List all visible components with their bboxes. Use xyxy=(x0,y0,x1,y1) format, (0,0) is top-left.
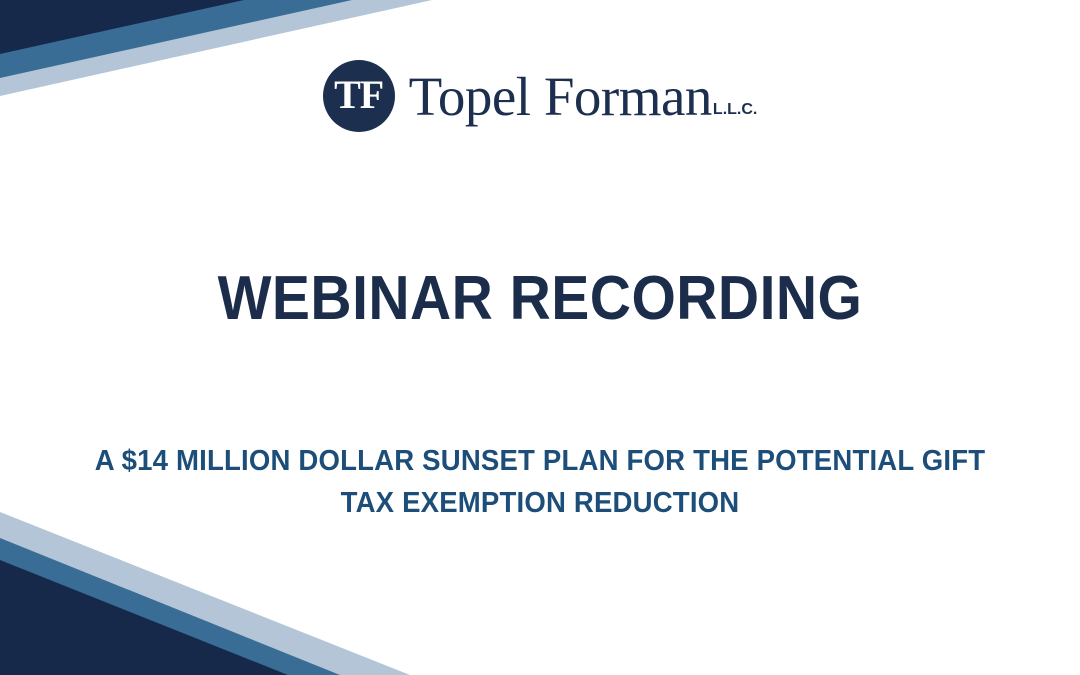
tf-monogram-icon: TF xyxy=(323,60,395,132)
bottom-left-navy-band xyxy=(0,560,288,675)
subtitle-line-2: TAX EXEMPTION REDUCTION xyxy=(75,482,1006,524)
logo-monogram-text: TF xyxy=(334,75,383,115)
top-left-navy-band xyxy=(0,0,244,54)
logo-wordmark: Topel Forman L.L.C. xyxy=(409,69,758,124)
brand-logo-lockup: TF Topel Forman L.L.C. xyxy=(0,60,1080,132)
subtitle-line-1: A $14 MILLION DOLLAR SUNSET PLAN FOR THE… xyxy=(75,440,1006,482)
bottom-left-steel-blue-band xyxy=(0,538,340,675)
webinar-recording-slide: TF Topel Forman L.L.C. WEBINAR RECORDING… xyxy=(0,0,1080,675)
company-name-text: Topel Forman xyxy=(409,69,712,124)
entity-suffix-text: L.L.C. xyxy=(713,102,757,118)
page-title: WEBINAR RECORDING xyxy=(43,266,1037,331)
webinar-subtitle: A $14 MILLION DOLLAR SUNSET PLAN FOR THE… xyxy=(75,440,1006,524)
bottom-left-light-blue-band xyxy=(0,512,410,675)
